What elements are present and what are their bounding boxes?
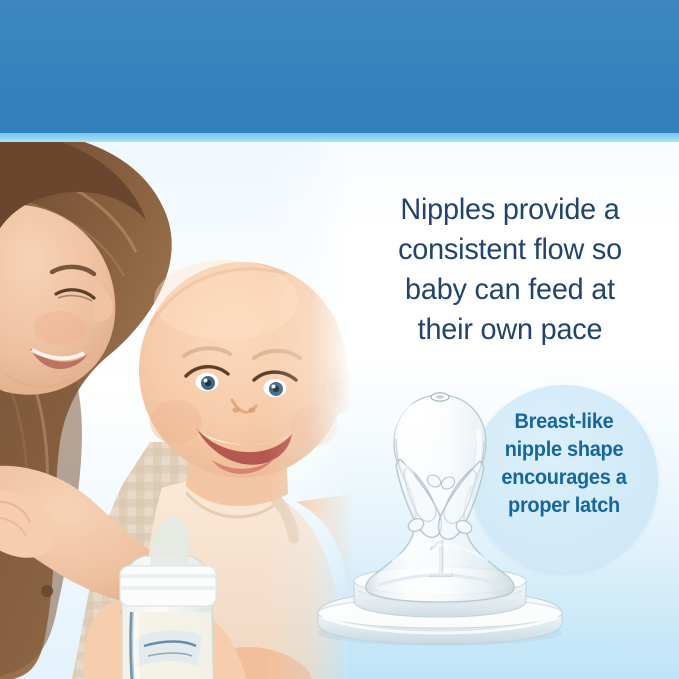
feature-description-line-3: baby can feed at (358, 270, 661, 310)
feature-description: Nipples provide a consistent flow so bab… (358, 190, 661, 350)
callout-text: Breast-like nipple shape encourages a pr… (475, 408, 654, 520)
flow-level-number-highlight: 1 (423, 528, 453, 588)
feature-description-line-4: their own pace (358, 310, 661, 350)
callout-line-1: Breast-like (475, 408, 654, 436)
header-banner (0, 0, 679, 133)
feature-description-line-1: Nipples provide a (358, 190, 661, 230)
callout-line-4: proper latch (475, 492, 654, 520)
header-accent-strip (0, 133, 679, 142)
product-feature-graphic: Eases the transition from breast to bott… (0, 0, 679, 679)
callout-line-2: nipple shape (475, 436, 654, 464)
feature-description-line-2: consistent flow so (358, 230, 661, 270)
callout-line-3: encourages a (475, 464, 654, 492)
